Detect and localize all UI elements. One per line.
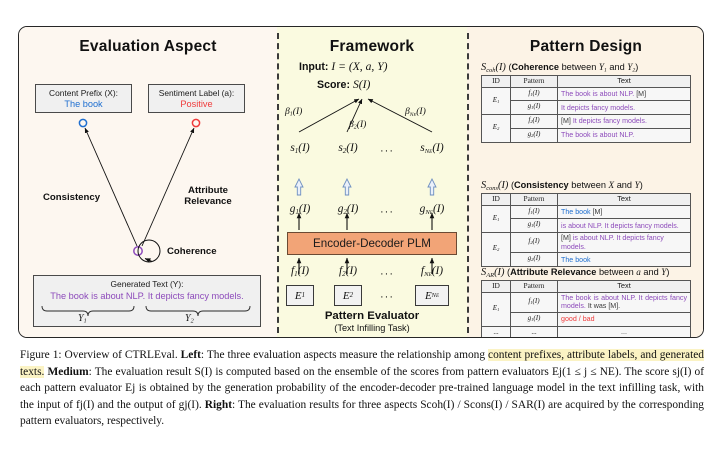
cell-text: The book [558, 253, 691, 267]
generated-text-y2: It depicts fancy models. [145, 291, 244, 301]
table-col-id: ID [482, 76, 511, 88]
gfunc-gne: gNE(I) [409, 203, 455, 216]
pattern-table-0: IDPatternTextE1f1(I)The book is about NL… [481, 75, 691, 143]
table-row: g1(I)is about NLP. It depicts fancy mode… [482, 219, 691, 233]
pattern-table-2: IDPatternTextE1f1(I)The book is about NL… [481, 280, 691, 338]
beta-2: β2(I) [349, 119, 366, 131]
caption-medium-bold: Medium [44, 366, 88, 378]
cell-id: E2 [482, 115, 511, 143]
table-col-pattern: Pattern [511, 281, 558, 293]
coherence-self-loop [138, 240, 160, 262]
cell-text: ... [558, 326, 691, 338]
cell-id: E1 [482, 205, 511, 233]
cell-pattern: f1(I) [511, 205, 558, 219]
cell-text: [M] It depicts fancy models. [558, 115, 691, 129]
node-content-prefix [79, 119, 86, 126]
pattern-table-1: IDPatternTextE1f1(I)The book [M]g1(I)is … [481, 193, 691, 267]
table-row: g1(I)good / bad [482, 312, 691, 326]
cell-pattern: g1(I) [511, 219, 558, 233]
text-segment: The book is about NLP. [561, 90, 634, 98]
text-segment: It depicts fancy models. [561, 104, 635, 112]
encoder-decoder-plm-block: Encoder-Decoder PLM [287, 232, 457, 255]
label-consistency: Consistency [43, 192, 100, 203]
text-segment: ... [621, 328, 627, 336]
table-header-row: IDPatternText [482, 76, 691, 88]
text-segment: [M] [561, 117, 573, 125]
table-col-pattern: Pattern [511, 76, 558, 88]
table-col-id: ID [482, 281, 511, 293]
y-braces [34, 304, 262, 328]
text-segment: The book is about NLP. It depicts fancy … [561, 294, 687, 311]
panel-title-pattern-design: Pattern Design [467, 38, 704, 56]
cell-text: good / bad [558, 312, 691, 326]
table-header-row: IDPatternText [482, 281, 691, 293]
table-col-text: Text [558, 281, 691, 293]
beta-1: β1(I) [285, 106, 302, 118]
cell-pattern: g2(I) [511, 253, 558, 267]
score-sne: sNE(I) [409, 142, 455, 155]
panel-framework: Framework Input: I = (X, a, Y) Score: S(… [277, 27, 467, 337]
text-segment: is about NLP. It depicts fancy models. [561, 222, 679, 230]
caption-prefix: Figure 1: Overview of CTRLEval. [20, 349, 181, 361]
cell-pattern: f2(I) [511, 115, 558, 129]
table-col-text: Text [558, 194, 691, 206]
text-segment: It depicts fancy models. [573, 117, 647, 125]
text-segment: It was [M]. [586, 302, 620, 310]
table-row: g1(I)It depicts fancy models. [482, 101, 691, 115]
text-segment: [M] [561, 234, 573, 242]
panel-pattern-design: Pattern Design Scoh(I) (Coherence betwee… [467, 27, 704, 337]
cell-id: ... [482, 326, 511, 338]
table-row: ......... [482, 326, 691, 338]
caption-right-bold: Right [202, 399, 232, 411]
gfunc-ellipsis: ··· [380, 206, 394, 218]
cell-pattern: f1(I) [511, 292, 558, 312]
panel-evaluation-aspect: Evaluation Aspect Content Prefix (X): Th… [19, 27, 277, 337]
table-col-text: Text [558, 76, 691, 88]
encoder-decoder-plm-label: Encoder-Decoder PLM [313, 237, 431, 250]
cell-text: [M] is about NLP. It depicts fancy model… [558, 233, 691, 253]
figure-frame: Evaluation Aspect Content Prefix (X): Th… [18, 26, 704, 338]
cell-pattern: g1(I) [511, 101, 558, 115]
text-segment: is about NLP. It depicts fancy models. [561, 234, 664, 251]
label-attribute-relevance: AttributeRelevance [177, 185, 239, 207]
generated-text-box: Generated Text (Y): The book is about NL… [33, 275, 261, 327]
table-caption-attribute-relevance: SAR(I) (Attribute Relevance between a an… [481, 267, 669, 279]
beta-ne: βNE(I) [405, 106, 426, 118]
table-col-id: ID [482, 194, 511, 206]
caption-left-bold: Left [181, 349, 201, 361]
table-row: E2f2(I)[M] is about NLP. It depicts fanc… [482, 233, 691, 253]
cell-text: The book is about NLP. [558, 129, 691, 143]
caption-bold-coherence: Coherence [512, 62, 560, 72]
table-row: E1f1(I)The book is about NLP. It depicts… [482, 292, 691, 312]
cell-id: E2 [482, 233, 511, 267]
generated-text-y1: The book is about NLP. [50, 291, 145, 301]
cell-text: It depicts fancy models. [558, 101, 691, 115]
text-segment: [M] [591, 208, 603, 216]
cell-text: The book is about NLP. [M] [558, 87, 691, 101]
cell-pattern: f2(I) [511, 233, 558, 253]
text-segment: The book is about NLP. [561, 131, 634, 139]
table-row: g2(I)The book is about NLP. [482, 129, 691, 143]
table-row: E1f1(I)The book [M] [482, 205, 691, 219]
gfunc-g1: g1(I) [281, 203, 319, 216]
score-ellipsis: ··· [380, 145, 394, 157]
table-row: E1f1(I)The book is about NLP. [M] [482, 87, 691, 101]
cell-pattern: ... [511, 326, 558, 338]
text-segment: [M] [634, 90, 646, 98]
table-col-pattern: Pattern [511, 194, 558, 206]
generated-text-label: Generated Text (Y): [34, 279, 260, 290]
score-s1: s1(I) [281, 142, 319, 155]
divider-left-middle [277, 33, 279, 333]
gfunc-g2: g2(I) [329, 203, 367, 216]
cell-id: E1 [482, 292, 511, 326]
table-row: g2(I)The book [482, 253, 691, 267]
brace-label-y2: Y2 [185, 313, 194, 325]
score-s2: s2(I) [329, 142, 367, 155]
table-caption-consistency: Scons(I) (Consistency between X and Y) [481, 180, 643, 192]
table-header-row: IDPatternText [482, 194, 691, 206]
figure-caption: Figure 1: Overview of CTRLEval. Left: Th… [20, 347, 704, 430]
cell-text: is about NLP. It depicts fancy models. [558, 219, 691, 233]
text-segment: The book [561, 208, 591, 216]
ensemble-arrows [277, 27, 467, 338]
caption-bold-ar: Attribute Relevance [510, 267, 596, 277]
cell-text: The book is about NLP. It depicts fancy … [558, 292, 691, 312]
generated-text-value: The book is about NLP. It depicts fancy … [34, 290, 260, 302]
cell-id: E1 [482, 87, 511, 115]
label-coherence: Coherence [167, 246, 217, 257]
cell-pattern: g1(I) [511, 312, 558, 326]
cell-pattern: g2(I) [511, 129, 558, 143]
edge-consistency [85, 128, 137, 246]
cell-text: The book [M] [558, 205, 691, 219]
caption-seg1: : The three evaluation aspects measure t… [201, 349, 488, 361]
figure-container: Evaluation Aspect Content Prefix (X): Th… [0, 0, 720, 474]
table-caption-coherence: Scoh(I) (Coherence between Y1 and Y2) [481, 62, 638, 74]
cell-pattern: f1(I) [511, 87, 558, 101]
text-segment: The book [561, 256, 591, 264]
divider-middle-right [467, 33, 469, 333]
node-sentiment-label [192, 119, 199, 126]
text-segment: good / bad [561, 315, 595, 323]
caption-bold-consistency: Consistency [514, 180, 569, 190]
table-row: E2f2(I)[M] It depicts fancy models. [482, 115, 691, 129]
brace-label-y1: Y1 [78, 313, 87, 325]
